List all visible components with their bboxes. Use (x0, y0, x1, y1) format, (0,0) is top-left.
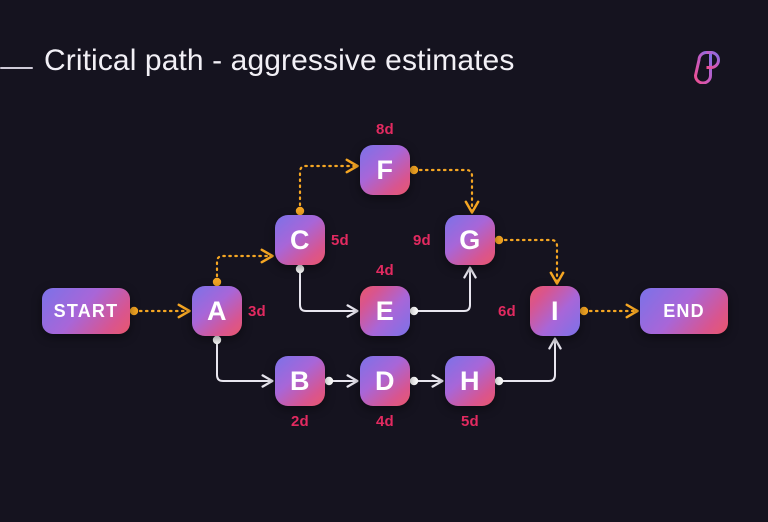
node-d-label: D (375, 366, 395, 397)
node-c-label: C (290, 225, 310, 256)
duration-c: 5d (331, 232, 349, 249)
page-title: Critical path - aggressive estimates (44, 44, 514, 78)
duration-i: 6d (498, 303, 516, 320)
node-start-label: START (54, 301, 119, 322)
edge-c-e (300, 269, 356, 311)
duration-h: 5d (461, 413, 479, 430)
node-f[interactable]: F (360, 145, 410, 195)
brand-logo-icon (690, 48, 726, 84)
duration-a: 3d (248, 303, 266, 320)
node-start[interactable]: START (42, 288, 130, 334)
edge-h-i (499, 340, 555, 381)
node-h-label: H (460, 366, 480, 397)
node-g[interactable]: G (445, 215, 495, 265)
node-b-label: B (290, 366, 310, 397)
diagram-canvas: Critical path - aggressive estimates (0, 0, 768, 522)
duration-e: 4d (376, 262, 394, 279)
edge-f-g (414, 170, 472, 211)
node-a-label: A (207, 296, 227, 327)
node-e-label: E (376, 296, 395, 327)
duration-f: 8d (376, 121, 394, 138)
duration-d: 4d (376, 413, 394, 430)
duration-b: 2d (291, 413, 309, 430)
node-c[interactable]: C (275, 215, 325, 265)
node-i[interactable]: I (530, 286, 580, 336)
node-i-label: I (551, 296, 559, 327)
node-e[interactable]: E (360, 286, 410, 336)
node-d[interactable]: D (360, 356, 410, 406)
node-f-label: F (377, 155, 394, 186)
node-end-label: END (663, 301, 705, 322)
edge-a-c (217, 256, 271, 282)
edge-a-b (217, 340, 271, 381)
edge-c-f (300, 166, 356, 211)
edge-g-i (499, 240, 557, 282)
duration-g: 9d (413, 232, 431, 249)
node-g-label: G (459, 225, 481, 256)
node-a[interactable]: A (192, 286, 242, 336)
page-header: Critical path - aggressive estimates (0, 44, 768, 94)
node-end[interactable]: END (640, 288, 728, 334)
node-b[interactable]: B (275, 356, 325, 406)
edge-e-g (414, 269, 470, 311)
node-h[interactable]: H (445, 356, 495, 406)
title-rule-icon (0, 67, 33, 69)
